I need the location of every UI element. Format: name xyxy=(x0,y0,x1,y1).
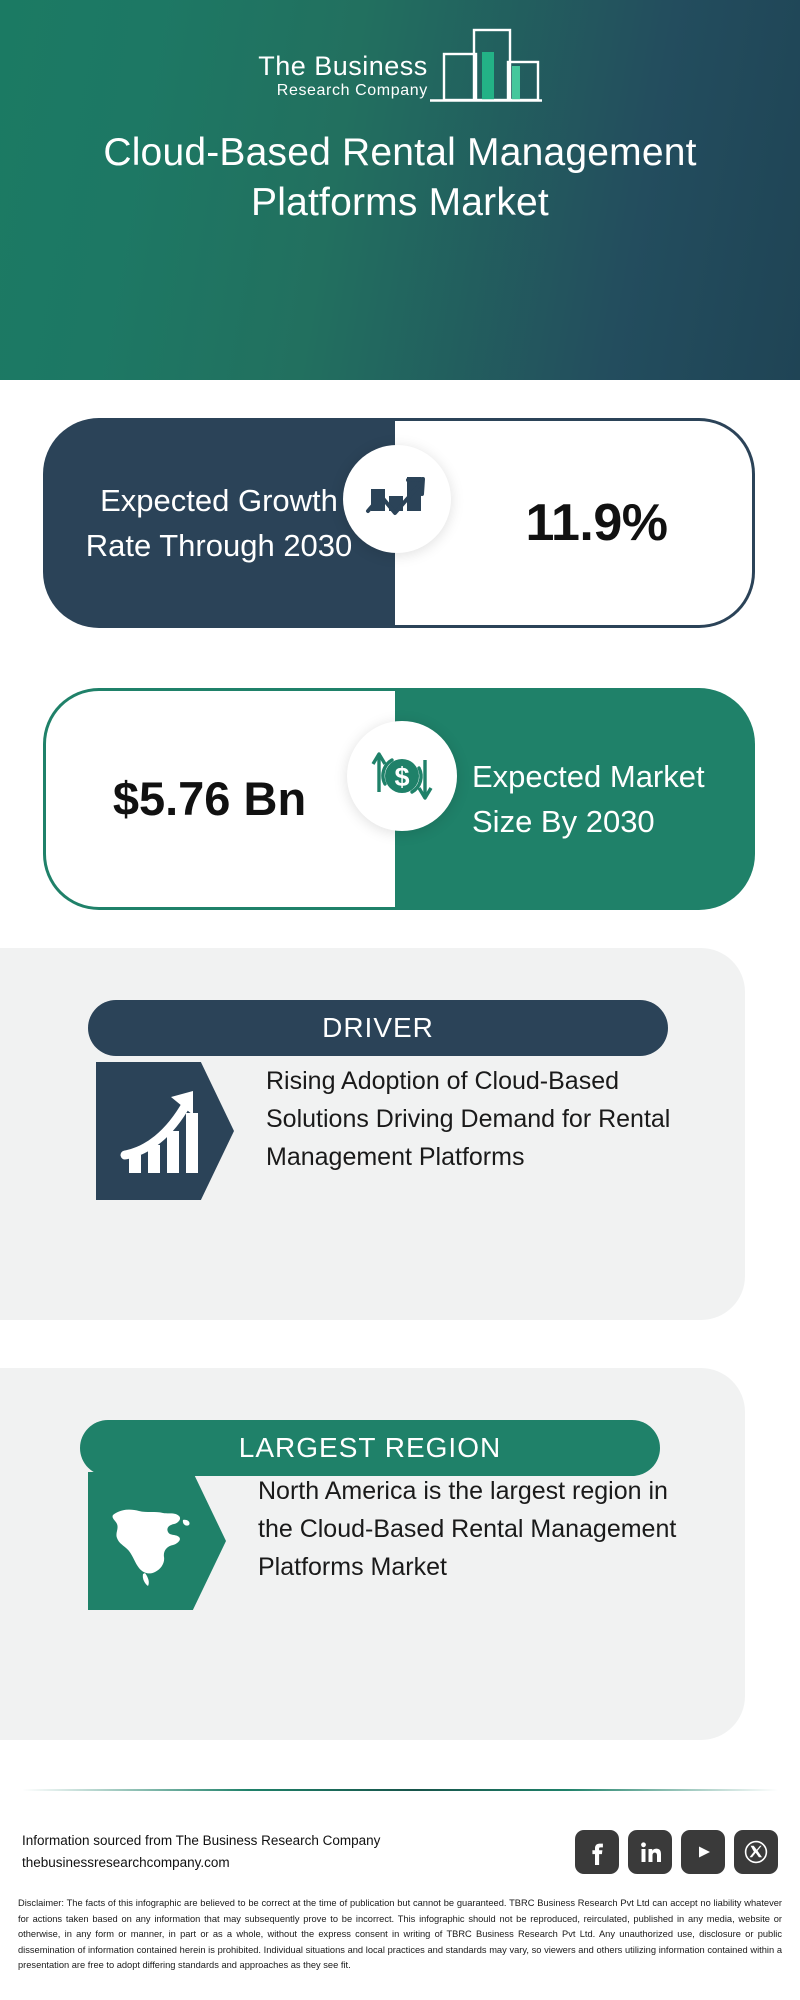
page-title: Cloud-Based Rental Management Platforms … xyxy=(80,128,720,228)
rising-bar-chart-icon xyxy=(96,1062,234,1200)
svg-text:$: $ xyxy=(394,762,409,792)
logo-title-line1: The Business xyxy=(258,52,428,80)
stat-market-size: $5.76 Bn Expected Market Size By 2030 $ xyxy=(43,688,755,910)
driver-badge: DRIVER xyxy=(88,1000,668,1056)
disclaimer-text: Disclaimer: The facts of this infographi… xyxy=(18,1896,782,1974)
growth-rate-value: 11.9% xyxy=(525,493,667,553)
company-logo: The Business Research Company xyxy=(250,24,550,106)
growth-rate-label-panel: Expected Growth Rate Through 2030 xyxy=(43,418,395,628)
logo-title-line2: Research Company xyxy=(258,81,428,100)
growth-chart-arrow-icon xyxy=(343,445,451,553)
largest-region-text: North America is the largest region in t… xyxy=(258,1472,688,1586)
bar-chart-logo-icon xyxy=(430,26,542,106)
growth-rate-label: Expected Growth Rate Through 2030 xyxy=(69,478,369,569)
growth-rate-value-panel: 11.9% xyxy=(395,418,755,628)
footer-source-block: Information sourced from The Business Re… xyxy=(22,1830,380,1875)
north-america-map-icon xyxy=(88,1472,226,1610)
stat-growth-rate: Expected Growth Rate Through 2030 11.9% xyxy=(43,418,755,628)
footer: Information sourced from The Business Re… xyxy=(22,1820,778,1884)
market-size-label: Expected Market Size By 2030 xyxy=(472,754,722,845)
social-links xyxy=(575,1830,778,1874)
driver-text: Rising Adoption of Cloud-Based Solutions… xyxy=(266,1062,696,1176)
largest-region-card-body: North America is the largest region in t… xyxy=(88,1472,688,1610)
footer-divider xyxy=(22,1789,778,1791)
linkedin-icon[interactable] xyxy=(628,1830,672,1874)
x-twitter-icon[interactable] xyxy=(734,1830,778,1874)
dollar-circulation-icon: $ xyxy=(347,721,457,831)
footer-website-link[interactable]: thebusinessresearchcompany.com xyxy=(22,1852,380,1874)
footer-source-line1: Information sourced from The Business Re… xyxy=(22,1830,380,1852)
market-size-value-panel: $5.76 Bn xyxy=(43,688,395,910)
logo-text-block: The Business Research Company xyxy=(258,52,428,106)
youtube-icon[interactable] xyxy=(681,1830,725,1874)
header-banner: The Business Research Company Cloud-Base… xyxy=(0,0,800,380)
facebook-icon[interactable] xyxy=(575,1830,619,1874)
largest-region-badge: LARGEST REGION xyxy=(80,1420,660,1476)
market-size-value: $5.76 Bn xyxy=(95,767,325,832)
driver-card-body: Rising Adoption of Cloud-Based Solutions… xyxy=(96,1062,696,1200)
